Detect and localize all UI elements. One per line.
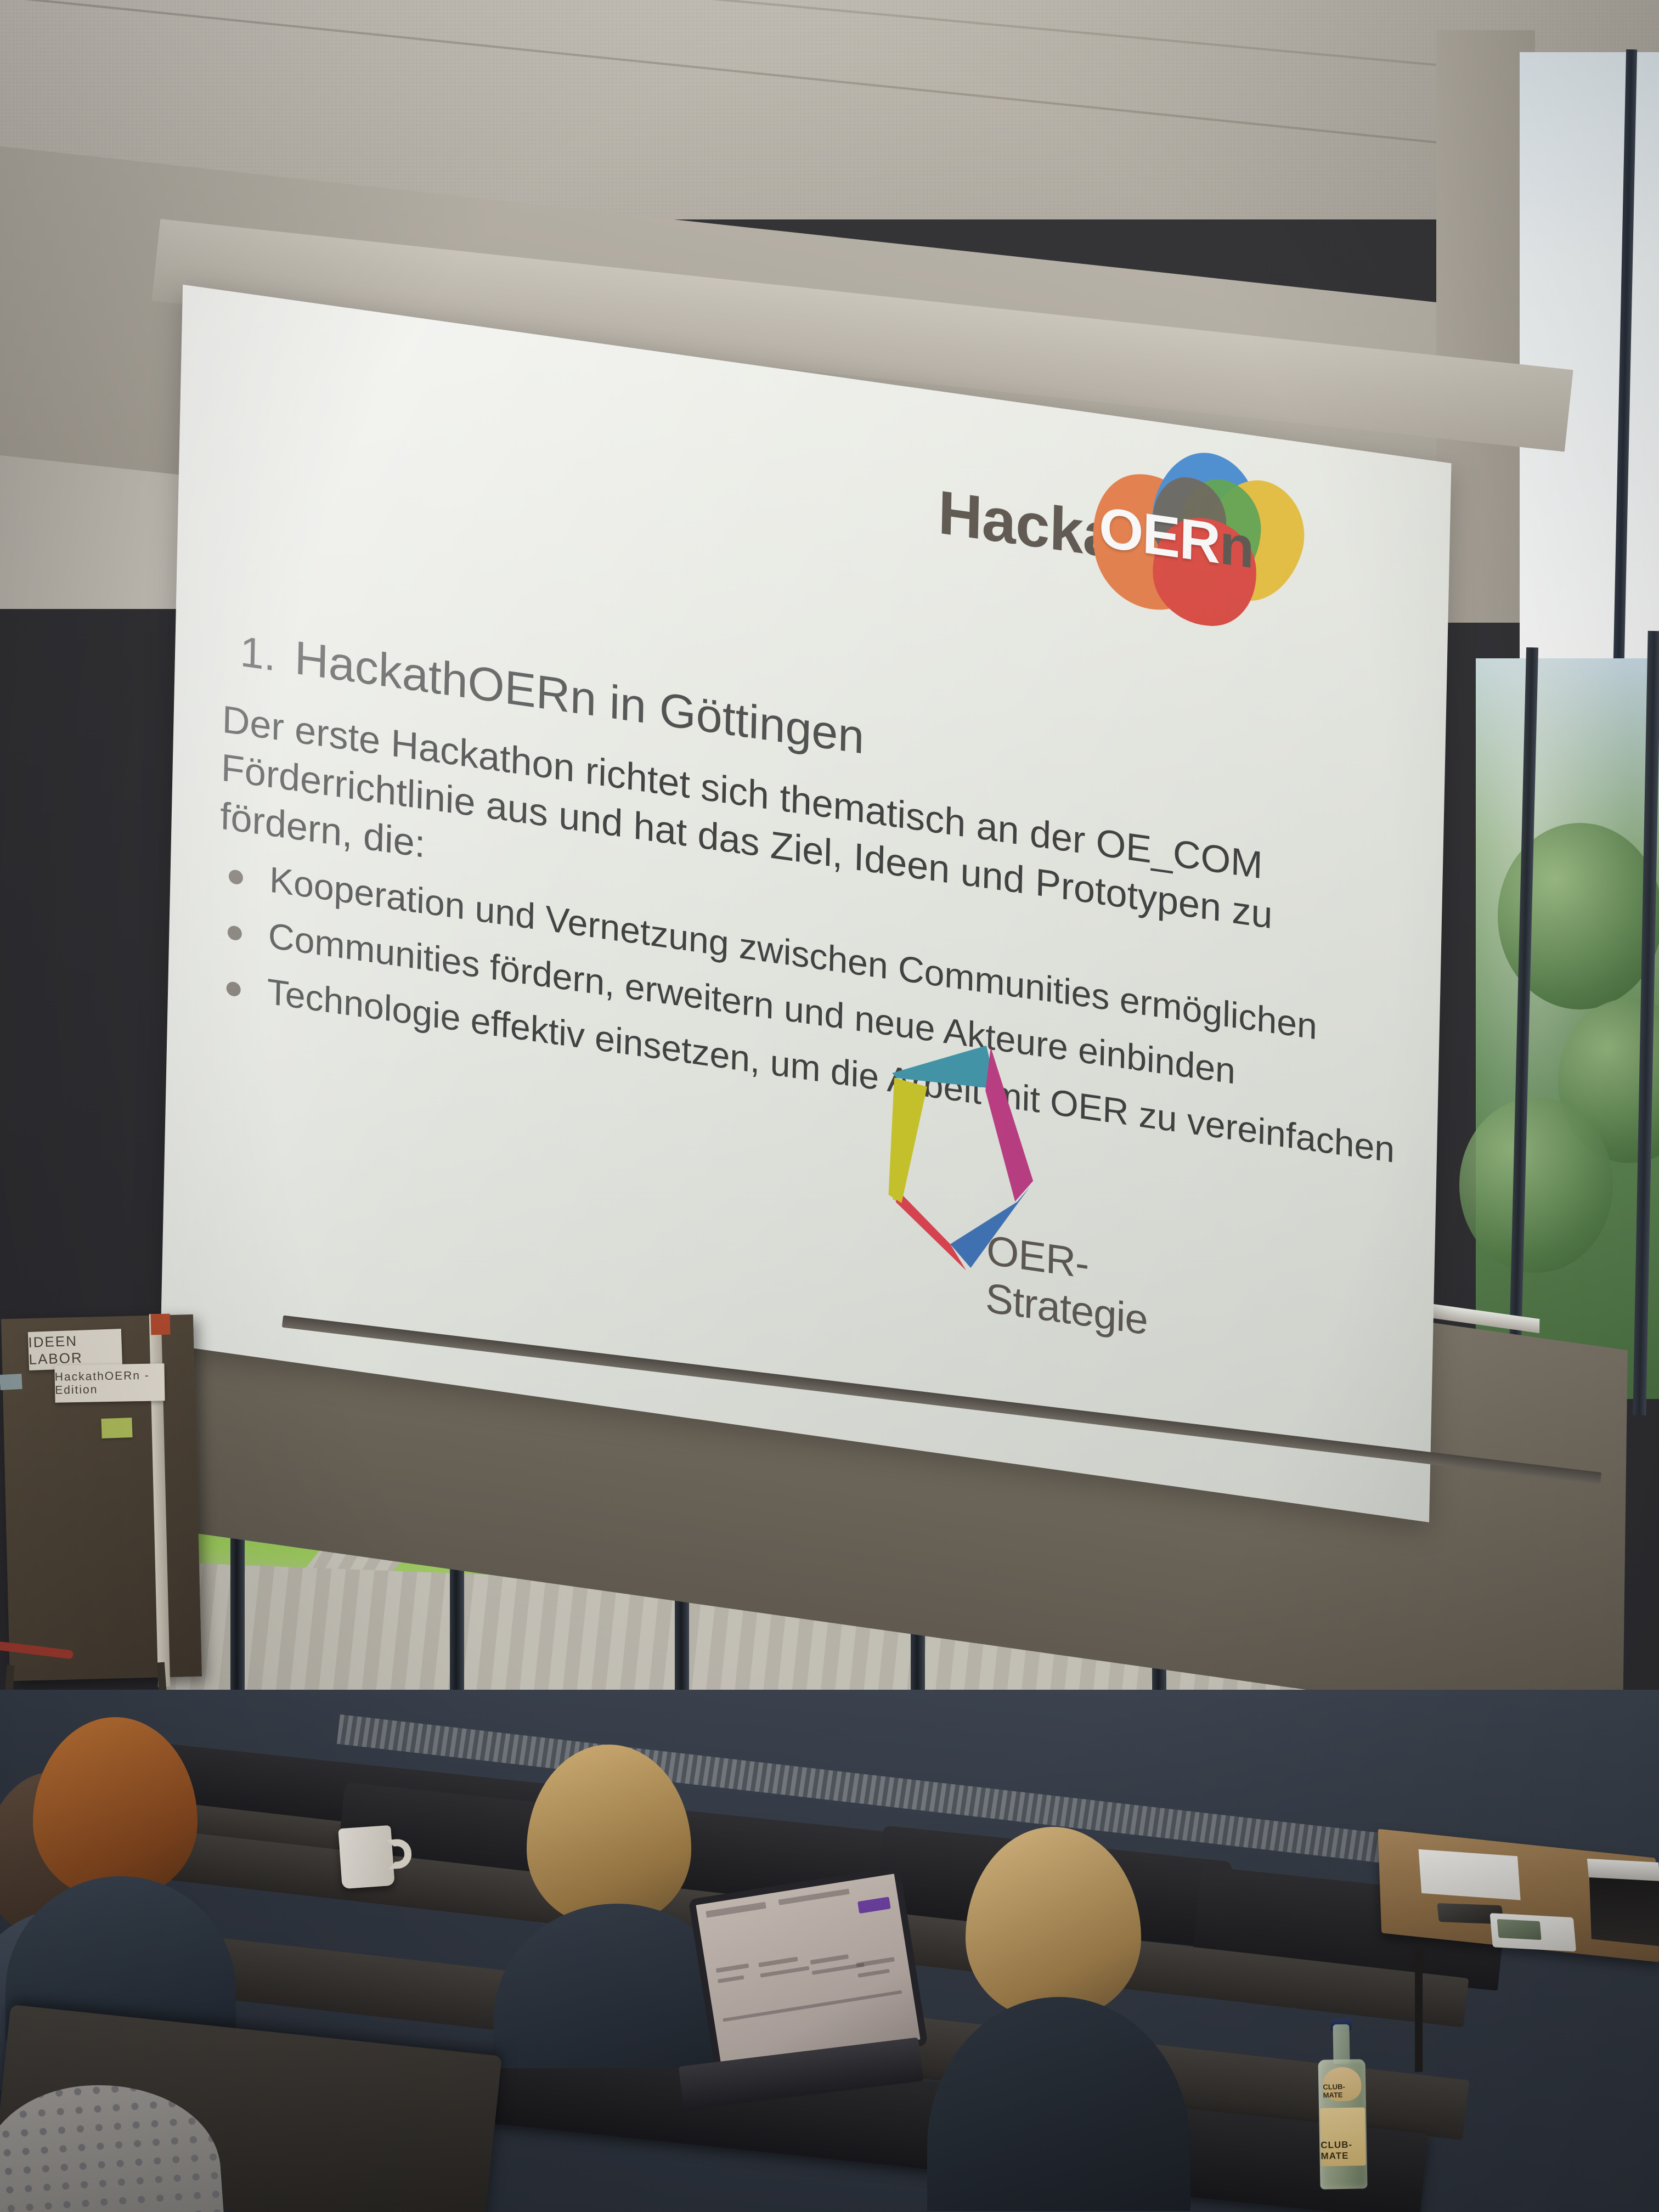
slide-title-number: 1. <box>240 627 276 681</box>
oer-strategie-logo: OER-Strategie <box>882 1020 1251 1378</box>
laptop-ui-accent-button[interactable] <box>857 1897 891 1914</box>
hackathoern-brand: Hackath OERn <box>936 443 1280 628</box>
oer-strategie-label: OER-Strategie <box>985 1226 1247 1358</box>
paper-sheet[interactable] <box>1419 1849 1521 1900</box>
laptop-ui-line <box>716 1963 749 1973</box>
av-lectern-desk[interactable] <box>1379 1838 1659 2078</box>
av-touch-panel-screen[interactable] <box>1497 1919 1542 1940</box>
laptop-ui-line <box>810 1954 849 1965</box>
bullet-dot-icon <box>226 981 241 997</box>
bottle-collar-label: CLUB-MATE <box>1323 2067 1362 2101</box>
projection-screen: Hackath OERn 1. HackathOERn in Göttingen <box>160 209 1589 1426</box>
laptop-ui-line <box>856 1957 894 1967</box>
projected-slide-surface: Hackath OERn 1. HackathOERn in Göttingen <box>161 285 1452 1522</box>
club-mate-bottle[interactable]: CLUB-MATE CLUB-MATE <box>1317 2024 1367 2189</box>
lectern-leg <box>1415 1946 1423 2072</box>
sign-hackathoern-edition: HackathOERn - Edition <box>54 1363 165 1402</box>
presentation-slide: Hackath OERn 1. HackathOERn in Göttingen <box>161 285 1452 1522</box>
laptop-ui-divider <box>723 1990 902 2022</box>
laptop-ui-line <box>758 1957 798 1967</box>
hackathoern-logo-icon: OERn <box>1091 437 1281 628</box>
bottle-main-label: CLUB-MATE <box>1320 2107 1366 2166</box>
laptop-ui-line <box>760 1966 809 1978</box>
av-rack-top-strip <box>1587 1859 1659 1881</box>
bullet-dot-icon <box>228 925 242 941</box>
laptop-ui-line <box>858 1969 890 1978</box>
bottle-neck <box>1333 2024 1350 2064</box>
bullet-dot-icon <box>229 869 244 885</box>
sticky-note <box>101 1418 132 1438</box>
av-rack-box <box>1589 1873 1659 1946</box>
sticky-note-small <box>0 1374 22 1390</box>
laptop-ui-line <box>778 1889 850 1905</box>
pinboard-corner-clip <box>151 1314 171 1335</box>
coffee-mug[interactable] <box>338 1825 394 1889</box>
laptop-ui-line <box>706 1902 766 1918</box>
laptop-ui-line <box>718 1975 744 1983</box>
lecture-hall-scene: Hackath OERn 1. HackathOERn in Göttingen <box>0 0 1659 2212</box>
